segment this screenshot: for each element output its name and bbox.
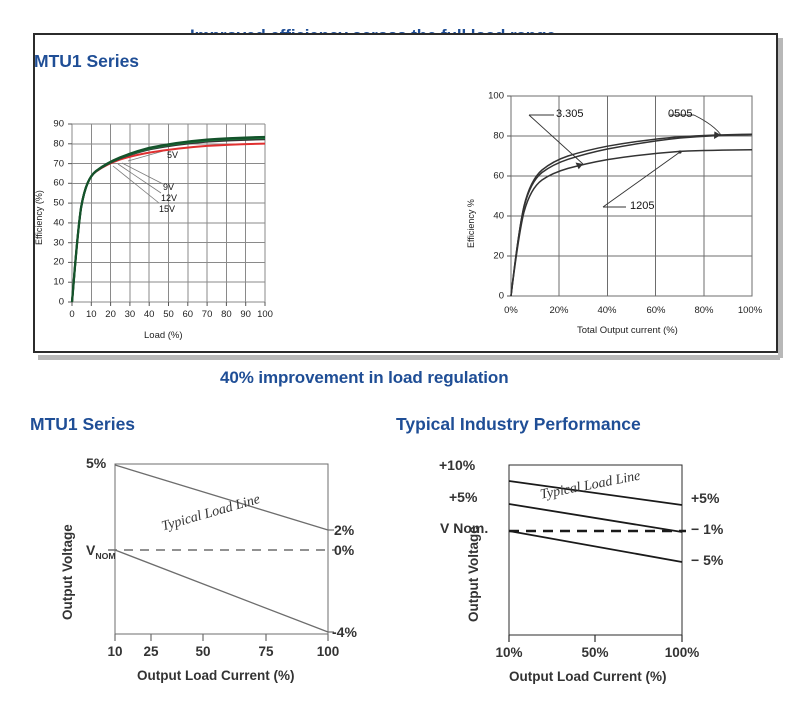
label-right-neg5: − 5% — [691, 552, 723, 568]
x-tick-blr-100: 100 — [317, 644, 340, 659]
x-axis-title-brr: Output Load Current (%) — [509, 669, 666, 684]
label-left-plus5: +5% — [449, 489, 477, 505]
upper-tolerance-line — [509, 481, 682, 505]
typical-load-line-label-right: Typical Load Line — [539, 469, 642, 504]
x-tick-blr-10: 10 — [107, 644, 122, 659]
bottom-right-chart-title: Typical Industry Performance — [396, 414, 641, 435]
x-tick-blr-75: 75 — [258, 644, 273, 659]
panel-shadow-right — [778, 38, 783, 358]
top-left-chart-title: MTU1 Series — [34, 51, 139, 72]
y-axis-title-brr: Output Voltage — [466, 526, 481, 622]
label-left-plus10: +10% — [439, 457, 475, 473]
x-tick-blr-25: 25 — [143, 644, 158, 659]
bottom-left-chart-title: MTU1 Series — [30, 414, 135, 435]
mid-tolerance-line — [509, 504, 682, 532]
upper-tolerance-line — [115, 465, 328, 530]
x-tick-brr-10: 10% — [495, 645, 522, 660]
label-right-neg4pct: -4% — [332, 624, 357, 640]
typical-load-line-label-left: Typical Load Line — [160, 492, 262, 535]
top-panel-frame — [33, 33, 778, 353]
lower-tolerance-line — [115, 550, 328, 632]
label-right-2pct: 2% — [334, 522, 354, 538]
panel-shadow-bottom — [38, 355, 780, 360]
vnom-subscript: NOM — [95, 551, 115, 561]
label-right-0pct: 0% — [334, 542, 354, 558]
label-left-vnom: VNOM — [86, 542, 116, 561]
lower-tolerance-line — [509, 531, 682, 562]
label-right-neg1: − 1% — [691, 521, 723, 537]
slide-canvas: Improved efficiency across the full load… — [0, 0, 806, 704]
x-axis-title-blr: Output Load Current (%) — [137, 668, 294, 683]
x-tick-brr-50: 50% — [581, 645, 608, 660]
x-tick-blr-50: 50 — [195, 644, 210, 659]
label-left-vnom: V Nom. — [440, 520, 488, 536]
label-right-plus5: +5% — [691, 490, 719, 506]
mid-banner-title: 40% improvement in load regulation — [220, 368, 509, 388]
y-axis-title-blr: Output Voltage — [60, 524, 75, 620]
label-left-5pct: 5% — [86, 455, 106, 471]
x-tick-brr-100: 100% — [665, 645, 700, 660]
